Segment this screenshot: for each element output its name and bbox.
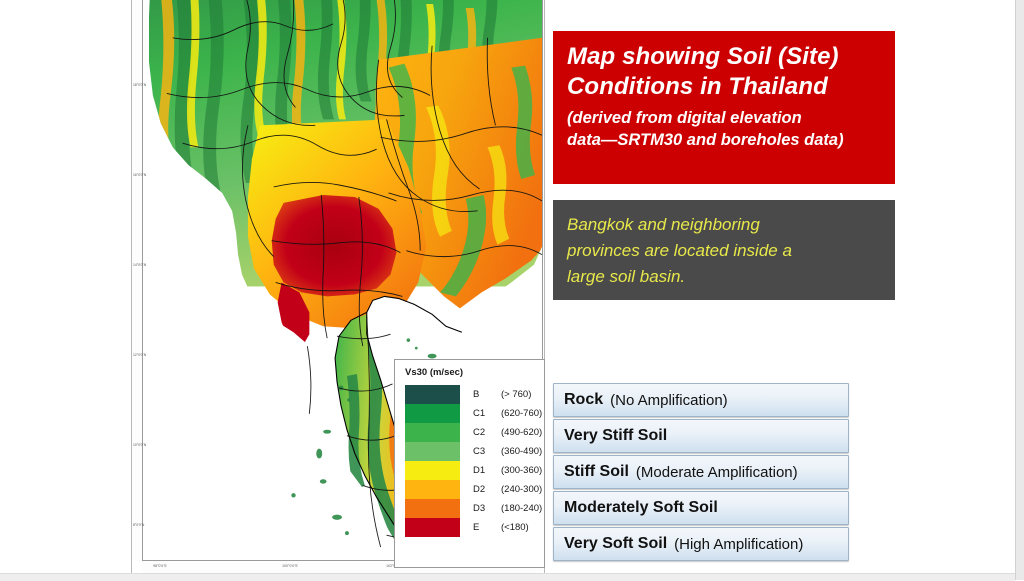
x-tick: 100°0'0"E: [282, 564, 298, 568]
title-banner: Map showing Soil (Site) Conditions in Th…: [553, 31, 895, 184]
vs30-class-code: E: [473, 522, 501, 533]
vs30-legend-item: C2 (490-620): [405, 423, 544, 442]
vs30-color-swatch: [405, 480, 460, 499]
soil-class-row-very-soft-soil[interactable]: Very Soft Soil (High Amplification): [553, 527, 849, 561]
soil-class-name: Moderately Soft Soil: [564, 499, 718, 517]
callout-line-2: provinces are located inside a: [567, 238, 879, 264]
vs30-color-swatch: [405, 518, 460, 537]
map-figure: 18°0'0"N 16°0'0"N 14°0'0"N 12°0'0"N 10°0…: [131, 0, 545, 576]
vs30-color-swatch: [405, 442, 460, 461]
y-tick: 14°0'0"N: [133, 263, 146, 267]
soil-class-row-rock[interactable]: Rock (No Amplification): [553, 383, 849, 417]
vs30-class-range: (> 760): [501, 389, 531, 400]
soil-class-note: (Moderate Amplification): [636, 464, 798, 481]
y-tick: 8°0'0"N: [133, 523, 144, 527]
soil-class-note: (No Amplification): [610, 392, 728, 409]
y-tick: 10°0'0"N: [133, 443, 146, 447]
soil-class-name: Rock: [564, 391, 603, 409]
vs30-class-code: C1: [473, 408, 501, 419]
vs30-class-range: (180-240): [501, 503, 542, 514]
vs30-legend-title: Vs30 (m/sec): [405, 367, 544, 378]
vs30-color-swatch: [405, 499, 460, 518]
title-subtitle-line-1: (derived from digital elevation: [567, 108, 881, 130]
vs30-legend-item: D2 (240-300): [405, 480, 544, 499]
vs30-legend-item: C3 (360-490): [405, 442, 544, 461]
vs30-class-range: (<180): [501, 522, 529, 533]
title-line-1: Map showing Soil (Site): [567, 42, 881, 72]
vs30-class-range: (300-360): [501, 465, 542, 476]
vs30-legend-item: D3 (180-240): [405, 499, 544, 518]
vs30-color-swatch: [405, 461, 460, 480]
vs30-class-code: C3: [473, 446, 501, 457]
x-tick: 98°0'0"E: [153, 564, 167, 568]
y-tick: 12°0'0"N: [133, 353, 146, 357]
vs30-class-range: (620-760): [501, 408, 542, 419]
vs30-legend-item: C1 (620-760): [405, 404, 544, 423]
callout-line-1: Bangkok and neighboring: [567, 212, 879, 238]
y-tick: 18°0'0"N: [133, 83, 146, 87]
soil-class-name: Very Stiff Soil: [564, 427, 667, 445]
vs30-color-swatch: [405, 404, 460, 423]
y-tick: 16°0'0"N: [133, 173, 146, 177]
soil-class-name: Very Soft Soil: [564, 535, 667, 553]
vs30-legend-item: B (> 760): [405, 385, 544, 404]
title-line-2: Conditions in Thailand: [567, 72, 881, 102]
soil-class-note: (High Amplification): [674, 536, 803, 553]
vs30-class-code: D3: [473, 503, 501, 514]
vs30-legend-item: D1 (300-360): [405, 461, 544, 480]
callout-line-3: large soil basin.: [567, 264, 879, 290]
vs30-legend-item: E (<180): [405, 518, 544, 537]
vs30-class-range: (240-300): [501, 484, 542, 495]
soil-class-row-moderately-soft-soil[interactable]: Moderately Soft Soil: [553, 491, 849, 525]
vs30-class-code: B: [473, 389, 501, 400]
vs30-class-range: (360-490): [501, 446, 542, 457]
title-subtitle-line-2: data—SRTM30 and boreholes data): [567, 130, 881, 152]
vs30-color-swatch: [405, 423, 460, 442]
soil-class-row-very-stiff-soil[interactable]: Very Stiff Soil: [553, 419, 849, 453]
soil-class-name: Stiff Soil: [564, 463, 629, 481]
slide-canvas: 18°0'0"N 16°0'0"N 14°0'0"N 12°0'0"N 10°0…: [0, 0, 1024, 580]
vs30-color-swatch: [405, 385, 460, 404]
vs30-class-range: (490-620): [501, 427, 542, 438]
vs30-legend-rows: B (> 760) C1 (620-760) C2 (490-620) C3 (…: [405, 385, 544, 537]
soil-class-row-stiff-soil[interactable]: Stiff Soil (Moderate Amplification): [553, 455, 849, 489]
callout-box: Bangkok and neighboring provinces are lo…: [553, 200, 895, 300]
map-y-axis: 18°0'0"N 16°0'0"N 14°0'0"N 12°0'0"N 10°0…: [132, 0, 142, 561]
vs30-legend: Vs30 (m/sec) B (> 760) C1 (620-760) C2 (…: [394, 359, 545, 568]
page-edge-right: [1015, 0, 1024, 580]
vs30-class-code: C2: [473, 427, 501, 438]
vs30-class-code: D1: [473, 465, 501, 476]
vs30-class-code: D2: [473, 484, 501, 495]
soil-class-list: Rock (No Amplification) Very Stiff Soil …: [553, 383, 849, 563]
